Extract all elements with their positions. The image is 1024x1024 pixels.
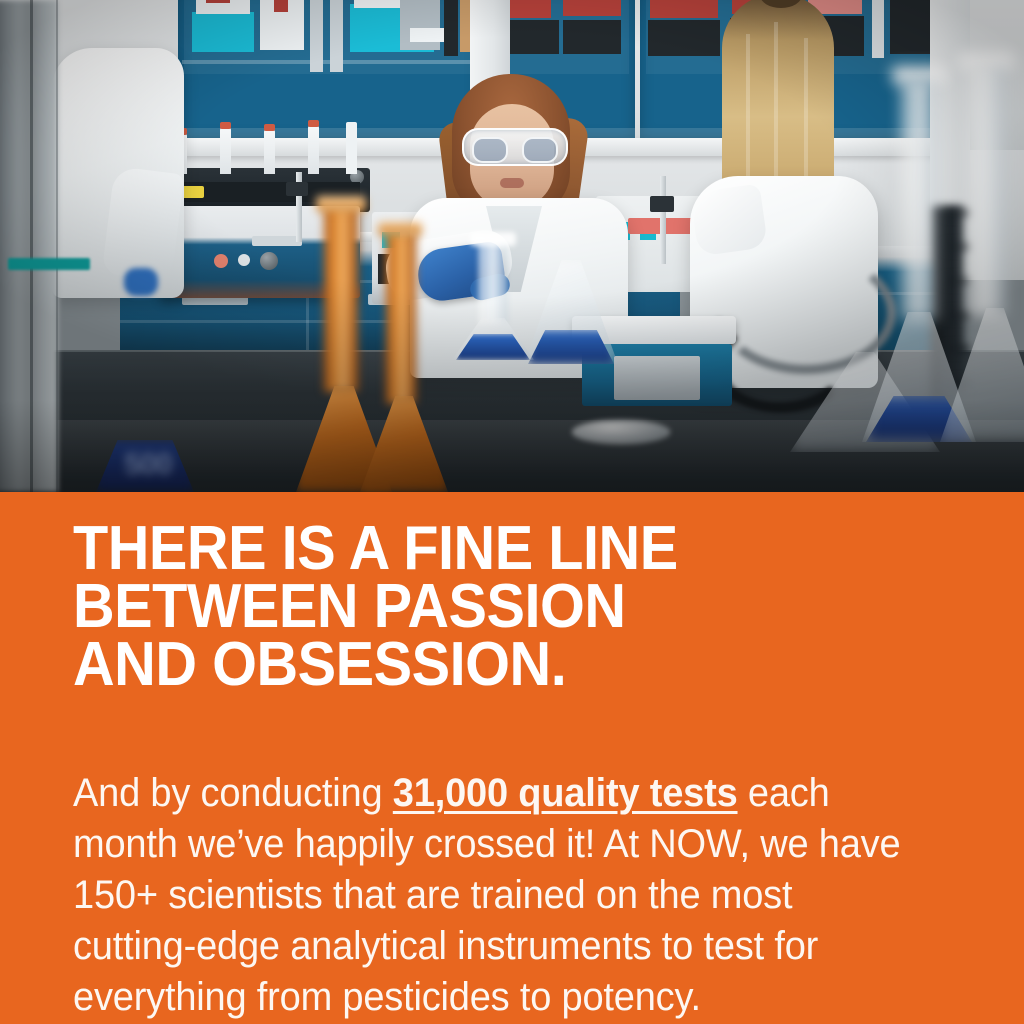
amber-flask-2-neck	[386, 232, 416, 404]
goggle-lens-right	[522, 137, 558, 163]
headline-line-3: AND OBSESSION.	[73, 636, 891, 694]
upper-cabinet-left	[178, 0, 478, 138]
amber-flask-1-lip	[316, 196, 366, 212]
orange-copy-panel: THERE IS A FINE LINE BETWEEN PASSION AND…	[0, 492, 1024, 1024]
ring-stand-rod	[660, 176, 666, 264]
sample-vial	[264, 130, 275, 174]
instrument-display	[252, 236, 302, 246]
goggle-lens-left	[472, 137, 508, 163]
headline: THERE IS A FINE LINE BETWEEN PASSION AND…	[73, 520, 891, 694]
cyan-box	[192, 12, 254, 52]
flask-blue-neck	[478, 240, 508, 324]
flask-500-label: 500	[116, 450, 180, 480]
flask-blue-lip	[470, 232, 516, 246]
teal-band	[8, 258, 90, 270]
flask-500-neck	[126, 262, 160, 390]
cabinet-divider	[872, 0, 884, 58]
glass-column-right-2-neck	[966, 66, 1006, 316]
door-frame-column	[0, 0, 58, 492]
center-scientist-mouth	[500, 178, 524, 188]
grey-bottle	[400, 0, 440, 50]
grey-column	[330, 0, 343, 72]
door-frame-seam	[30, 0, 33, 492]
glass-column-right-1-neck	[900, 80, 938, 320]
dark-gap	[444, 0, 458, 56]
door-frame-seam	[56, 0, 58, 492]
safety-goggles	[462, 128, 568, 166]
stand-clamp	[286, 182, 308, 196]
sample-vial	[346, 122, 357, 174]
body-copy-before: And by conducting	[73, 771, 393, 815]
headline-line-2: BETWEEN PASSION	[73, 578, 891, 636]
social-media-graphic: 500 THERE IS A FINE LINE BETWEEN PASSION…	[0, 0, 1024, 1024]
grey-column	[310, 0, 323, 72]
instrument-button	[238, 254, 250, 266]
sample-vial	[220, 128, 231, 174]
sample-vial	[308, 126, 319, 174]
instrument-dial	[260, 252, 278, 270]
red-label	[206, 0, 230, 3]
laboratory-photo: 500	[0, 0, 1024, 492]
headline-line-1: THERE IS A FINE LINE	[73, 520, 891, 578]
balance-display	[614, 356, 700, 400]
amber-flask-1-neck	[324, 206, 358, 392]
vial-cap	[264, 124, 275, 131]
stand-clamp	[650, 196, 674, 212]
cabinet-shelf-line	[182, 60, 474, 64]
amber-flask-2-lip	[378, 222, 422, 236]
dark-shelf	[648, 20, 720, 56]
dark-shelf	[563, 20, 621, 54]
body-copy: And by conducting 31,000 quality tests e…	[73, 768, 919, 1023]
vial-cap	[308, 120, 319, 127]
instrument-button	[214, 254, 228, 268]
red-box	[650, 0, 718, 18]
vial-cap	[220, 122, 231, 129]
red-label	[274, 0, 288, 12]
red-box	[563, 0, 621, 16]
petri-dish	[572, 420, 670, 444]
quality-tests-stat: 31,000 quality tests	[393, 771, 738, 815]
